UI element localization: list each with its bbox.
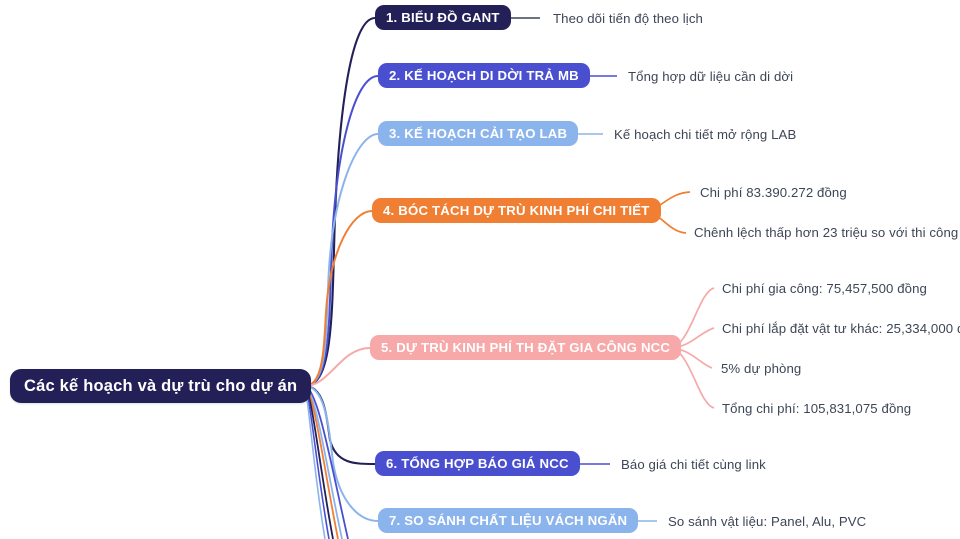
root-node-label: Các kế hoạch và dự trù cho dự án [24,377,297,396]
branch-node-6[interactable]: 6. TỔNG HỢP BÁO GIÁ NCC [375,451,580,476]
leaf-label-3-1: Kế hoạch chi tiết mở rộng LAB [614,127,796,142]
leaf-label-4-2: Chênh lệch thấp hơn 23 triệu so với thi … [694,225,958,240]
leaf-label-6-1: Báo giá chi tiết cùng link [621,457,766,472]
leaf-label-2-1: Tổng hợp dữ liệu cần di dời [628,69,793,84]
branch-node-2[interactable]: 2. KẾ HOẠCH DI DỜI TRẢ MB [378,63,590,88]
branch-node-2-label: 2. KẾ HOẠCH DI DỜI TRẢ MB [389,68,579,83]
leaf-label-5-2: Chi phí lắp đặt vật tư khác: 25,334,000 … [722,321,960,336]
leaf-label-7-1: So sánh vật liệu: Panel, Alu, PVC [668,514,866,529]
leaf-label-5-3: 5% dự phòng [721,361,801,376]
mindmap-canvas: Các kế hoạch và dự trù cho dự án 1. BIỂU… [0,0,960,539]
connector-root-branch-4 [305,211,372,386]
branch-node-3[interactable]: 3. KẾ HOẠCH CẢI TẠO LAB [378,121,578,146]
leaf-label-5-4: Tổng chi phí: 105,831,075 đồng [722,401,911,416]
branch-node-5-label: 5. DỰ TRÙ KINH PHÍ TH ĐẶT GIA CÔNG NCC [381,340,670,355]
branch-node-4-label: 4. BÓC TÁCH DỰ TRÙ KINH PHÍ CHI TIẾT [383,203,650,218]
leaf-label-1-1: Theo dõi tiến độ theo lịch [553,11,703,26]
branch-node-5[interactable]: 5. DỰ TRÙ KINH PHÍ TH ĐẶT GIA CÔNG NCC [370,335,681,360]
root-node[interactable]: Các kế hoạch và dự trù cho dự án [10,369,311,403]
leaf-label-5-1: Chi phí gia công: 75,457,500 đồng [722,281,927,296]
branch-node-7[interactable]: 7. SO SÁNH CHẤT LIỆU VÁCH NGĂN [378,508,638,533]
connector-root-branch-1 [305,18,375,386]
branch-node-1-label: 1. BIỂU ĐỒ GANT [386,10,500,25]
branch-node-6-label: 6. TỔNG HỢP BÁO GIÁ NCC [386,456,569,471]
branch-node-7-label: 7. SO SÁNH CHẤT LIỆU VÁCH NGĂN [389,513,627,528]
branch-node-4[interactable]: 4. BÓC TÁCH DỰ TRÙ KINH PHÍ CHI TIẾT [372,198,661,223]
branch-node-1[interactable]: 1. BIỂU ĐỒ GANT [375,5,511,30]
branch-node-3-label: 3. KẾ HOẠCH CẢI TẠO LAB [389,126,567,141]
leaf-label-4-1: Chi phí 83.390.272 đồng [700,185,847,200]
